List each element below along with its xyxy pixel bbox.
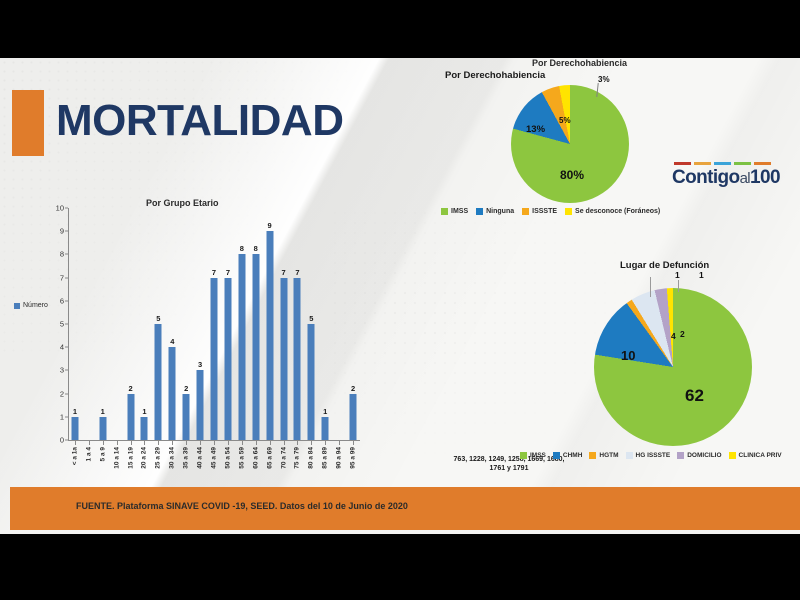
x-tick-label: 40 a 44: [197, 447, 204, 469]
x-tick-label: 1 a 4: [85, 447, 92, 461]
bar-value-label: 2: [351, 384, 355, 393]
bar-column: [82, 208, 96, 440]
pie2-value-domicilio: 2: [680, 329, 685, 339]
pie2-legend-swatch: [729, 452, 736, 459]
x-tick-mark: [75, 441, 76, 445]
bar-chart-title: Por Grupo Etario: [146, 198, 219, 208]
logo-word-num: 100: [750, 167, 780, 188]
pie1-legend-label: Ninguna: [486, 208, 514, 215]
x-tick-mark: [284, 441, 285, 445]
bar-column: 8: [235, 208, 249, 440]
bar-value-label: 2: [128, 384, 132, 393]
bar-value-label: 7: [212, 268, 216, 277]
pie-chart-lugar-defuncion: Lugar de Defunción 62 10 1 4 2 1 IMSSCHM…: [520, 256, 800, 478]
pie2-legend-swatch: [677, 452, 684, 459]
y-tick-label: 9: [60, 227, 64, 236]
x-tick-mark: [103, 441, 104, 445]
bar: [224, 278, 231, 440]
x-tick-label: 10 a 14: [113, 447, 120, 469]
pie2-legend-item: IMSS: [520, 452, 546, 459]
bar-column: 5: [151, 208, 165, 440]
logo-stripe-4: [734, 162, 751, 165]
bar: [71, 417, 78, 440]
bar: [308, 324, 315, 440]
bar-column: 8: [249, 208, 263, 440]
x-tick-label: 45 a 49: [211, 447, 218, 469]
x-tick-label: 25 a 29: [155, 447, 162, 469]
bar: [183, 394, 190, 440]
pie1-circle: [511, 85, 629, 203]
bar-value-label: 7: [295, 268, 299, 277]
bar: [280, 278, 287, 440]
pie1-value-issste: 5%: [559, 116, 571, 125]
bar-value-label: 3: [198, 360, 202, 369]
x-tick-mark: [158, 441, 159, 445]
pie2-leader-line-1: [650, 277, 651, 297]
bar-column: 7: [207, 208, 221, 440]
x-tick-mark: [89, 441, 90, 445]
x-tick-label: 50 a 54: [224, 447, 231, 469]
x-tick-label: 95 a 99: [350, 447, 357, 469]
bar-series-numero: 112154237788977512: [68, 208, 360, 440]
y-tick-label: 2: [60, 389, 64, 398]
y-tick-label: 4: [60, 343, 64, 352]
bar: [211, 278, 218, 440]
pie2-circle: [594, 288, 752, 446]
bar: [197, 370, 204, 440]
pie1-legend-item: IMSS: [441, 208, 468, 215]
pie1-legend-item: ISSSTE: [522, 208, 557, 215]
pie1-overlapped-title: Por Derechohabiencia: [532, 58, 627, 68]
y-tick-label: 7: [60, 273, 64, 282]
pie2-legend-swatch: [626, 452, 633, 459]
x-tick-mark: [172, 441, 173, 445]
pie1-value-imss: 80%: [560, 168, 584, 182]
x-tick-mark: [144, 441, 145, 445]
bar-column: 9: [263, 208, 277, 440]
bar-value-label: 5: [309, 314, 313, 323]
pie2-legend-item: CLINICA PRIV: [729, 452, 782, 459]
pie1-value-desconoce: 3%: [598, 75, 610, 84]
bar: [266, 231, 273, 440]
page-title: MORTALIDAD: [56, 96, 343, 146]
x-tick-mark: [325, 441, 326, 445]
x-tick-mark: [131, 441, 132, 445]
x-tick-mark: [353, 441, 354, 445]
pie2-value-chmh: 10: [621, 348, 635, 363]
bar-column: 2: [179, 208, 193, 440]
bar: [99, 417, 106, 440]
pie2-legend-label: CHMH: [563, 452, 583, 459]
bar-column: [110, 208, 124, 440]
bar-column: 2: [346, 208, 360, 440]
logo-word-thin: al: [740, 170, 750, 187]
pie2-legend-swatch: [520, 452, 527, 459]
y-tick-label: 10: [56, 204, 64, 213]
x-tick-mark: [228, 441, 229, 445]
bar-value-label: 7: [281, 268, 285, 277]
x-tick-label: 80 a 84: [308, 447, 315, 469]
y-tick-label: 3: [60, 366, 64, 375]
pie2-value-clinica-priv: 1: [699, 270, 704, 280]
bar-value-label: 1: [142, 407, 146, 416]
bar: [294, 278, 301, 440]
pie1-legend-label: ISSSTE: [532, 208, 557, 215]
pie2-value-imss: 62: [685, 386, 704, 406]
bar: [169, 347, 176, 440]
pie1-legend: IMSSNingunaISSSTESe desconoce (Foráneos): [441, 208, 660, 215]
bar-value-label: 5: [156, 314, 160, 323]
pie2-legend-label: IMSS: [530, 452, 546, 459]
x-tick-label: 70 a 74: [280, 447, 287, 469]
pie1-legend-label: IMSS: [451, 208, 468, 215]
pie2-legend-item: DOMICILIO: [677, 452, 721, 459]
pie1-legend-label: Se desconoce (Foráneos): [575, 208, 660, 215]
x-tick-label: 55 a 59: [238, 447, 245, 469]
x-tick-label: 85 a 89: [322, 447, 329, 469]
pie2-legend-label: CLINICA PRIV: [739, 452, 782, 459]
pie2-leader-line-2: [678, 280, 679, 292]
pie2-value-hg-issste: 4: [671, 331, 676, 341]
x-tick-label: 90 a 94: [336, 447, 343, 469]
x-tick-mark: [339, 441, 340, 445]
bar: [127, 394, 134, 440]
bar-column: 1: [318, 208, 332, 440]
bar-value-label: 4: [170, 337, 174, 346]
pie1-legend-item: Ninguna: [476, 208, 514, 215]
x-tick-label: 75 a 79: [294, 447, 301, 469]
x-tick-mark: [297, 441, 298, 445]
bar-column: 3: [193, 208, 207, 440]
pie1-legend-swatch: [441, 208, 448, 215]
bar-column: 1: [138, 208, 152, 440]
pie2-legend-label: DOMICILIO: [687, 452, 721, 459]
bar-column: [332, 208, 346, 440]
bar-column: 4: [165, 208, 179, 440]
x-tick-label: 15 a 19: [127, 447, 134, 469]
slide-bottom-edge: [0, 530, 800, 534]
pie1-legend-swatch: [476, 208, 483, 215]
bar-value-label: 1: [101, 407, 105, 416]
pie2-legend-item: HGTM: [589, 452, 618, 459]
bar-chart-plot-area: 012345678910 112154237788977512 < a 1a1 …: [68, 208, 360, 470]
bar-value-label: 9: [268, 221, 272, 230]
x-tick-label: 65 a 69: [266, 447, 273, 469]
bar: [350, 394, 357, 440]
x-tick-label: 20 a 24: [141, 447, 148, 469]
x-tick-mark: [242, 441, 243, 445]
pie2-legend-swatch: [553, 452, 560, 459]
pie2-legend-swatch: [589, 452, 596, 459]
bar: [155, 324, 162, 440]
bar: [252, 254, 259, 440]
bar-value-label: 8: [254, 244, 258, 253]
bar: [238, 254, 245, 440]
bar-column: 1: [96, 208, 110, 440]
bar-value-label: 7: [226, 268, 230, 277]
pie1-title: Por Derechohabiencia: [445, 70, 545, 81]
bar-column: 7: [221, 208, 235, 440]
bar-column: 2: [124, 208, 138, 440]
x-tick-label: 60 a 64: [252, 447, 259, 469]
bar-value-label: 8: [240, 244, 244, 253]
pie2-legend-item: HG ISSSTE: [626, 452, 671, 459]
pie2-title: Lugar de Defunción: [620, 260, 709, 271]
x-tick-label: 30 a 34: [169, 447, 176, 469]
pie2-legend-item: CHMH: [553, 452, 583, 459]
y-tick-label: 8: [60, 250, 64, 259]
bar-column: 1: [68, 208, 82, 440]
x-tick-mark: [214, 441, 215, 445]
y-tick-label: 5: [60, 320, 64, 329]
x-tick-label: 35 a 39: [183, 447, 190, 469]
bar-value-label: 1: [323, 407, 327, 416]
bar-column: 5: [304, 208, 318, 440]
x-tick-label: < a 1a: [71, 447, 78, 465]
y-tick-label: 0: [60, 436, 64, 445]
x-tick-mark: [186, 441, 187, 445]
bar: [322, 417, 329, 440]
screenshot-stage: MORTALIDAD Contigoal100 Por Grupo Etario…: [0, 0, 800, 600]
footer-band: FUENTE. Plataforma SINAVE COVID -19, SEE…: [10, 487, 800, 530]
x-tick-mark: [200, 441, 201, 445]
bar-value-label: 2: [184, 384, 188, 393]
y-tick-label: 1: [60, 412, 64, 421]
pie2-legend-label: HGTM: [599, 452, 618, 459]
x-tick-mark: [311, 441, 312, 445]
pie1-legend-swatch: [522, 208, 529, 215]
bar-chart-grupo-etario: Por Grupo Etario Número 012345678910 112…: [6, 198, 446, 528]
bar-chart-legend: Número: [14, 302, 48, 309]
pie2-legend: IMSSCHMHHGTMHG ISSSTEDOMICILIOCLINICA PR…: [520, 452, 800, 459]
x-tick-mark: [256, 441, 257, 445]
x-tick-mark: [117, 441, 118, 445]
pie-chart-derechohabiencia: Por Derechohabiencia Por Derechohabienci…: [437, 58, 717, 228]
pie1-legend-swatch: [565, 208, 572, 215]
pie1-legend-item: Se desconoce (Foráneos): [565, 208, 660, 215]
legend-label-numero: Número: [23, 302, 48, 309]
bar-value-label: 1: [73, 407, 77, 416]
footer-source-text: FUENTE. Plataforma SINAVE COVID -19, SEE…: [76, 501, 408, 511]
pie2-legend-label: HG ISSSTE: [636, 452, 671, 459]
legend-swatch-numero: [14, 303, 20, 309]
x-tick-mark: [270, 441, 271, 445]
x-tick-label: 5 a 9: [99, 447, 106, 461]
pie1-value-ninguna: 13%: [526, 124, 545, 135]
bar-column: 7: [277, 208, 291, 440]
title-accent-bar: [12, 90, 44, 156]
presentation-slide: MORTALIDAD Contigoal100 Por Grupo Etario…: [0, 58, 800, 534]
bar-column: 7: [291, 208, 305, 440]
logo-stripe-5: [754, 162, 771, 165]
bar: [141, 417, 148, 440]
y-tick-label: 6: [60, 296, 64, 305]
pie2-value-hgtm: 1: [675, 270, 680, 280]
